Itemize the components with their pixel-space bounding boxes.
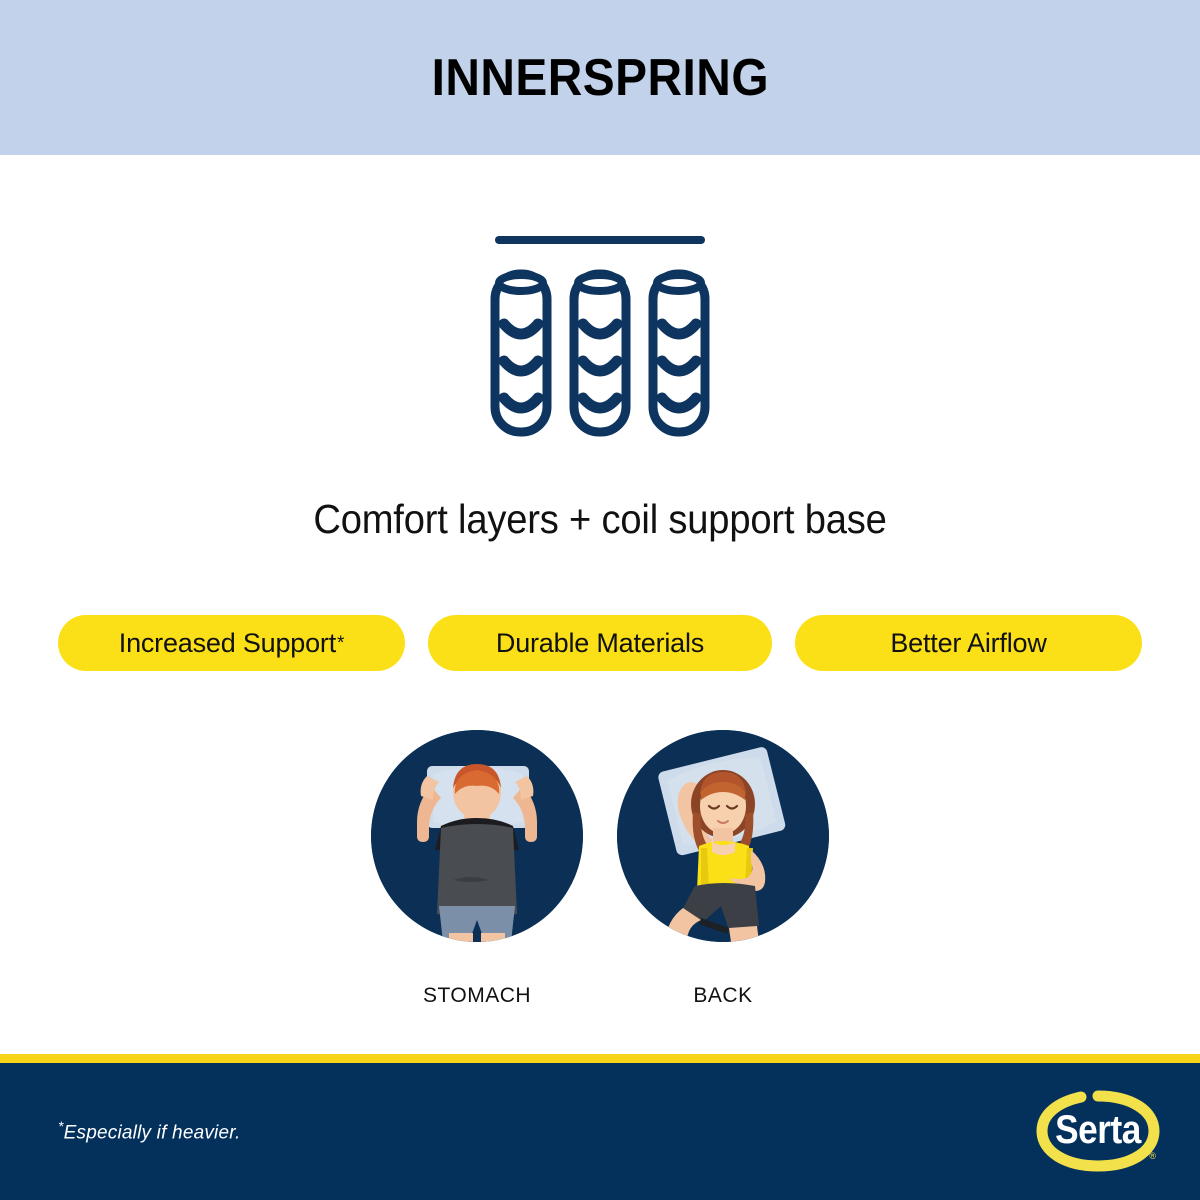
- footer-accent-stripe: [0, 1054, 1200, 1063]
- footnote-marker-icon: *: [337, 634, 344, 653]
- sleep-position-back[interactable]: BACK: [617, 730, 829, 1008]
- coil-2: [574, 274, 626, 432]
- coil-1: [495, 274, 547, 432]
- coil-stack-icon: [490, 228, 710, 443]
- feature-pill-label: Better Airflow: [890, 628, 1046, 659]
- support-bar: [495, 236, 705, 244]
- sleep-position-label-stomach: STOMACH: [423, 984, 531, 1008]
- registered-mark-icon: ®: [1149, 1151, 1156, 1161]
- footnote-body: Especially if heavier.: [64, 1122, 241, 1143]
- footnote-text: *Especially if heavier.: [58, 1118, 241, 1144]
- back-sleeper-illustration: [617, 730, 829, 942]
- sleep-position-label-back: BACK: [693, 984, 752, 1008]
- page-title: INNERSPRING: [431, 48, 768, 108]
- feature-pill-label: Increased Support: [119, 628, 336, 659]
- coil-3: [653, 274, 705, 432]
- feature-pill-durable-materials[interactable]: Durable Materials: [428, 615, 772, 671]
- subtitle: Comfort layers + coil support base: [42, 496, 1158, 543]
- feature-pill-row: Increased Support* Durable Materials Bet…: [58, 615, 1142, 671]
- header-band: INNERSPRING: [0, 0, 1200, 155]
- serta-swoosh-icon: [1032, 1086, 1164, 1178]
- coil-icon-container: [0, 228, 1200, 443]
- feature-pill-better-airflow[interactable]: Better Airflow: [795, 615, 1142, 671]
- feature-pill-increased-support[interactable]: Increased Support*: [58, 615, 405, 671]
- stomach-sleeper-illustration: [371, 730, 583, 942]
- sleep-position-row: STOMACH: [0, 730, 1200, 1008]
- serta-logo[interactable]: Serta ®: [1032, 1086, 1164, 1178]
- infographic-page: INNERSPRING: [0, 0, 1200, 1200]
- feature-pill-label: Durable Materials: [496, 628, 704, 659]
- sleep-position-stomach[interactable]: STOMACH: [371, 730, 583, 1008]
